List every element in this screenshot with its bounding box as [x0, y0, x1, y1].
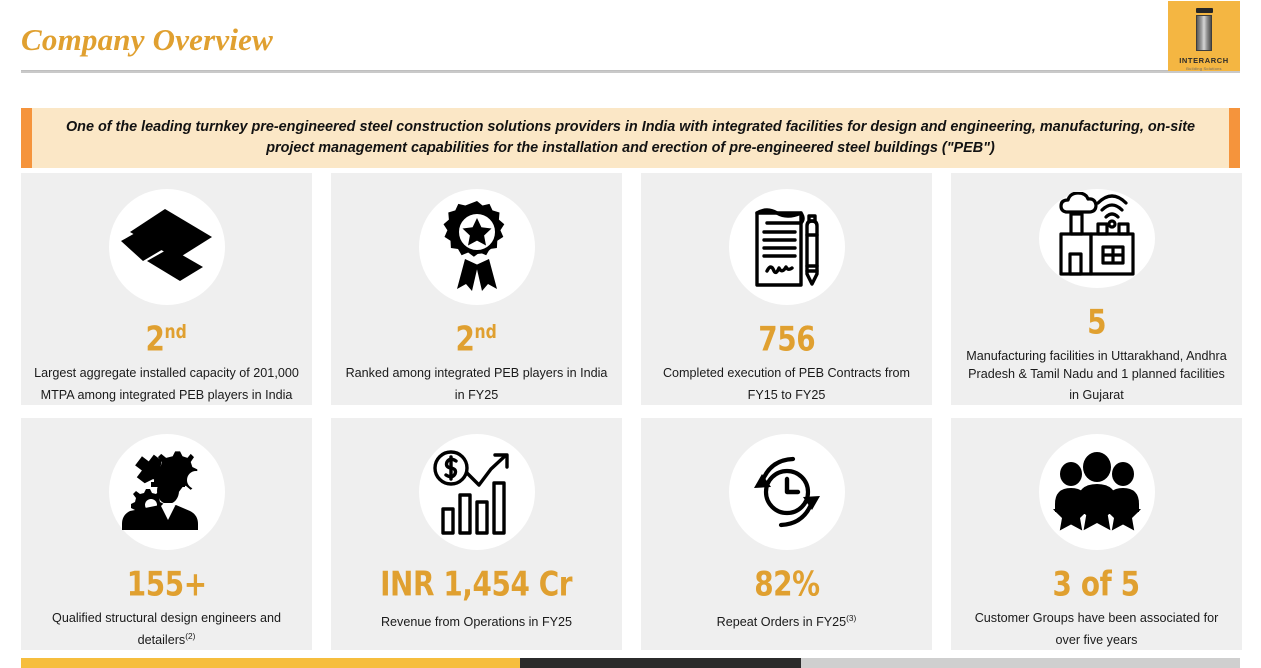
card-stat-suffix: nd: [475, 321, 497, 343]
highlight-card[interactable]: 2nd Largest aggregate installed capacity…: [21, 173, 312, 405]
card-footnote: (3): [846, 613, 856, 623]
logo-bar-cap-icon: [1196, 8, 1213, 13]
card-stat-value: 82%: [754, 564, 820, 604]
card-description: Customer Groups have been associated for…: [963, 610, 1231, 649]
highlight-card[interactable]: INR 1,454 Cr Revenue from Operations in …: [331, 418, 622, 650]
award-medal-icon: [419, 189, 535, 305]
highlight-card[interactable]: 5 Manufacturing facilities in Uttarakhan…: [951, 173, 1242, 405]
slide-footer: [0, 658, 1261, 668]
card-stat-suffix: nd: [165, 321, 187, 343]
card-stat: 82%: [754, 559, 820, 602]
card-stat-value: 756: [758, 319, 815, 359]
steel-panels-icon: [109, 189, 225, 305]
card-stat-value: 2: [146, 319, 165, 359]
card-description: Qualified structural design engineers an…: [33, 610, 301, 649]
card-description: Repeat Orders in FY25(3): [653, 610, 921, 632]
card-stat: 5: [1087, 297, 1106, 340]
footer-accent-dark: [520, 658, 801, 668]
slide-root: Company Overview INTERARCH Building Solu…: [0, 0, 1261, 668]
highlight-card-grid: 2nd Largest aggregate installed capacity…: [21, 173, 1240, 650]
headline-banner: One of the leading turnkey pre-engineere…: [21, 108, 1240, 168]
card-description: Completed execution of PEB Contracts fro…: [653, 365, 921, 404]
card-stat: INR 1,454 Cr: [380, 559, 572, 602]
card-stat: 2nd: [456, 314, 497, 357]
card-description: Manufacturing facilities in Uttarakhand,…: [963, 348, 1231, 405]
page-title: Company Overview: [21, 21, 273, 59]
revenue-growth-chart-icon: [419, 434, 535, 550]
slide-header: Company Overview INTERARCH Building Solu…: [0, 0, 1261, 80]
contract-document-pen-icon: [729, 189, 845, 305]
card-stat-value: 2: [456, 319, 475, 359]
banner-accent-right: [1229, 108, 1240, 168]
factory-smart-icon: [1039, 189, 1155, 288]
header-divider: [21, 70, 1240, 73]
card-stat: 756: [758, 314, 815, 357]
logo-column-icon: [1196, 15, 1212, 51]
logo-brand-text: INTERARCH: [1179, 56, 1229, 65]
engineer-gears-icon: [109, 434, 225, 550]
highlight-card[interactable]: 82% Repeat Orders in FY25(3): [641, 418, 932, 650]
logo-tagline-text: Building Solutions: [1186, 66, 1221, 71]
card-stat-value: 155+: [127, 564, 207, 604]
card-description: Ranked among integrated PEB players in I…: [343, 365, 611, 404]
card-stat: 155+: [127, 559, 207, 602]
highlight-card[interactable]: 3 of 5 Customer Groups have been associa…: [951, 418, 1242, 650]
highlight-card[interactable]: 756 Completed execution of PEB Contracts…: [641, 173, 932, 405]
interarch-logo: INTERARCH Building Solutions: [1168, 1, 1240, 71]
banner-accent-left: [21, 108, 32, 168]
banner-text: One of the leading turnkey pre-engineere…: [21, 117, 1240, 159]
card-stat-value: 3 of 5: [1053, 564, 1140, 604]
customer-group-stars-icon: [1039, 434, 1155, 550]
card-description: Largest aggregate installed capacity of …: [33, 365, 301, 404]
card-stat-value: 5: [1087, 302, 1106, 342]
highlight-card[interactable]: 2nd Ranked among integrated PEB players …: [331, 173, 622, 405]
footer-accent-orange: [21, 658, 520, 668]
card-footnote: (2): [185, 631, 195, 641]
footer-accent-grey: [801, 658, 1240, 668]
repeat-clock-icon: [729, 434, 845, 550]
card-stat: 3 of 5: [1053, 559, 1140, 602]
card-stat: 2nd: [146, 314, 187, 357]
card-description: Revenue from Operations in FY25: [343, 610, 611, 632]
card-stat-value: INR 1,454 Cr: [380, 564, 572, 604]
highlight-card[interactable]: 155+ Qualified structural design enginee…: [21, 418, 312, 650]
